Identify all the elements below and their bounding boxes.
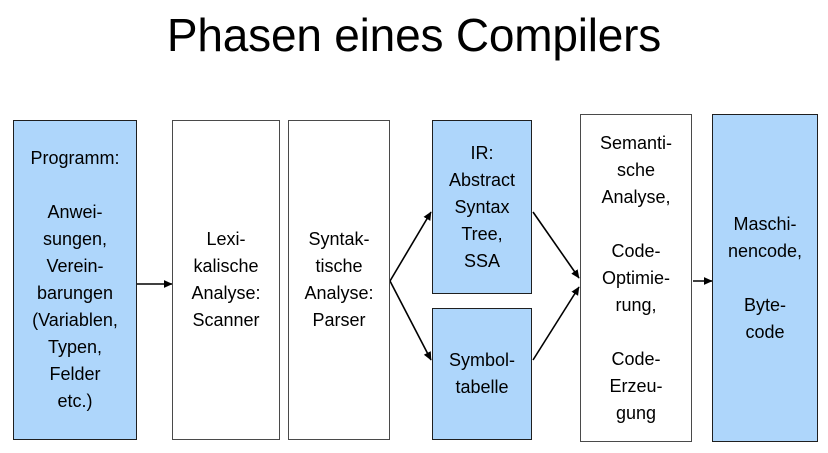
box-line: Typen, [48, 334, 102, 361]
box-line: Parser [312, 307, 365, 334]
box-lexikalische-analyse: Lexi- kalische Analyse: Scanner [172, 120, 280, 440]
box-line: etc.) [57, 388, 92, 415]
box-line: Verein- [46, 253, 103, 280]
box-line: tabelle [455, 374, 508, 401]
arrow-symboltabelle-to-semantische-analyse [533, 287, 579, 360]
box-line: Symbol- [449, 347, 515, 374]
box-semantische-analyse: Semanti- sche Analyse, Code- Optimie- ru… [580, 114, 692, 442]
box-line: (Variablen, [32, 307, 118, 334]
box-line: Lexi- [206, 226, 245, 253]
box-symboltabelle: Symbol- tabelle [432, 308, 532, 440]
box-line: Analyse: [304, 280, 373, 307]
box-line: Abstract [449, 167, 515, 194]
box-line: SSA [464, 248, 500, 275]
box-line: Code- [611, 238, 660, 265]
box-line: kalische [193, 253, 258, 280]
box-line: Syntak- [308, 226, 369, 253]
box-line: barungen [37, 280, 113, 307]
arrow-ir-to-semantische-analyse [533, 212, 579, 278]
box-line: Maschi- [733, 211, 796, 238]
box-line: rung, [615, 292, 656, 319]
box-syntaktische-analyse: Syntak- tische Analyse: Parser [288, 120, 390, 440]
box-line: IR: [470, 140, 493, 167]
box-line: Anwei- [47, 199, 102, 226]
box-line: Byte- [744, 292, 786, 319]
box-line: Programm: [30, 145, 119, 172]
box-line: Felder [49, 361, 100, 388]
diagram-canvas: Phasen eines Compilers Programm: Anwei- … [0, 0, 828, 453]
box-line: Scanner [192, 307, 259, 334]
box-line: Tree, [461, 221, 502, 248]
box-line: Erzeu- [609, 373, 662, 400]
box-line: sungen, [43, 226, 107, 253]
box-line: code [745, 319, 784, 346]
box-line: Code- [611, 346, 660, 373]
box-programm: Programm: Anwei- sungen, Verein- barunge… [13, 120, 137, 440]
box-line: Syntax [454, 194, 509, 221]
page-title: Phasen eines Compilers [0, 6, 828, 64]
arrow-parser-to-ir [390, 212, 431, 281]
arrow-parser-to-symboltabelle [390, 281, 431, 360]
box-line: nencode, [728, 238, 802, 265]
box-line: Analyse, [601, 184, 670, 211]
box-line: Optimie- [602, 265, 670, 292]
box-line: Analyse: [191, 280, 260, 307]
box-maschinencode: Maschi- nencode, Byte- code [712, 114, 818, 442]
box-line: gung [616, 400, 656, 427]
box-line: sche [617, 157, 655, 184]
box-line: Semanti- [600, 130, 672, 157]
box-ir: IR: Abstract Syntax Tree, SSA [432, 120, 532, 294]
box-line: tische [315, 253, 362, 280]
